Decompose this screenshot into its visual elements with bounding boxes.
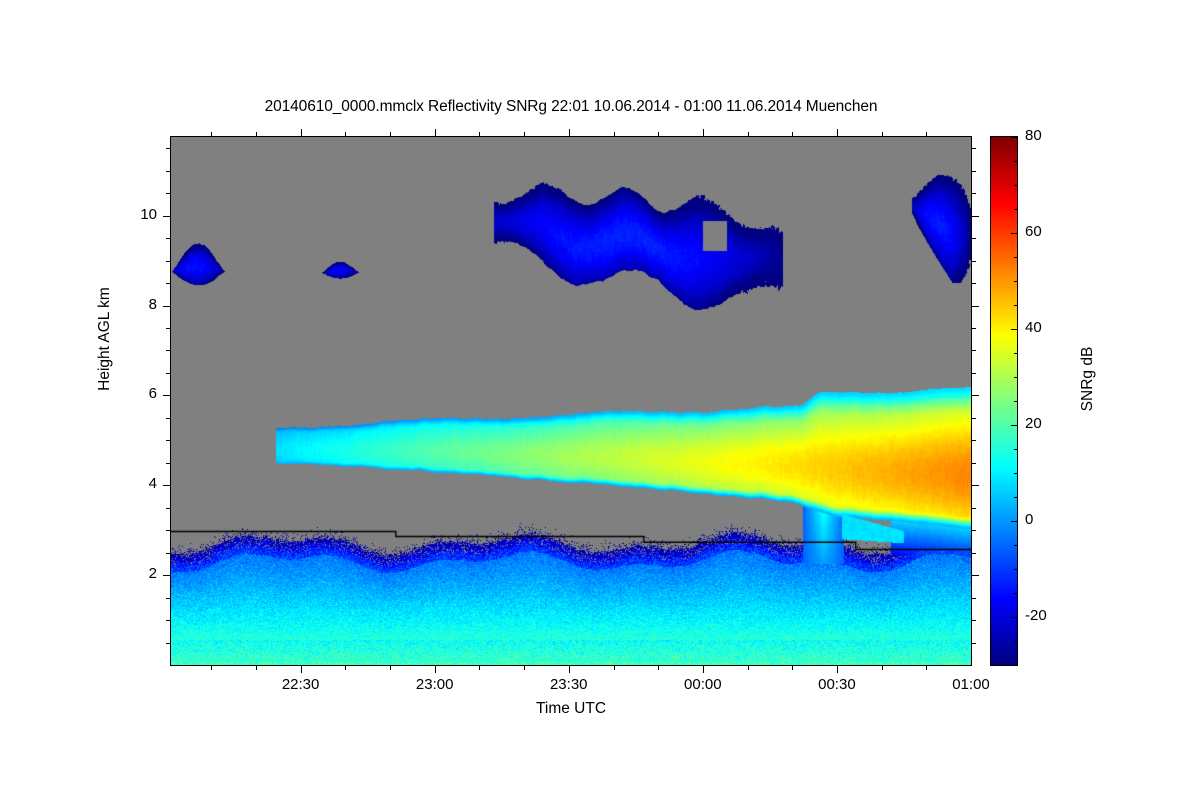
y-tick-right <box>971 620 976 621</box>
y-tick-left <box>163 306 171 307</box>
colorbar-tick <box>1014 161 1017 162</box>
colorbar-tick <box>1014 209 1017 210</box>
colorbar-tick <box>1014 353 1017 354</box>
y-tick-left <box>166 283 171 284</box>
y-tick-left <box>166 148 171 149</box>
x-tick-bottom <box>926 665 927 670</box>
colorbar-tick <box>1014 569 1017 570</box>
x-tick-bottom <box>837 665 838 673</box>
colorbar-tick <box>1011 233 1017 234</box>
y-tick-right <box>971 350 976 351</box>
colorbar-tick-label: 80 <box>1025 127 1085 144</box>
x-tick-top <box>837 129 838 137</box>
y-tick-label: 8 <box>32 296 157 313</box>
y-tick-left <box>163 575 171 576</box>
x-tick-bottom <box>301 665 302 673</box>
y-tick-right <box>971 373 976 374</box>
y-tick-right <box>971 261 976 262</box>
x-tick-top <box>479 132 480 137</box>
y-tick-right <box>971 575 979 576</box>
y-tick-label: 10 <box>32 206 157 223</box>
colorbar-tick-label: 20 <box>1025 415 1085 432</box>
x-tick-bottom <box>390 665 391 670</box>
y-tick-right <box>971 328 976 329</box>
x-tick-bottom <box>211 665 212 670</box>
x-tick-bottom <box>748 665 749 670</box>
y-tick-left <box>166 553 171 554</box>
x-tick-bottom <box>792 665 793 670</box>
x-tick-top <box>614 132 615 137</box>
colorbar-tick <box>1011 137 1017 138</box>
y-tick-left <box>166 193 171 194</box>
y-tick-right <box>971 530 976 531</box>
y-tick-left <box>166 328 171 329</box>
x-tick-top <box>345 132 346 137</box>
x-tick-top <box>256 132 257 137</box>
y-tick-left <box>166 171 171 172</box>
colorbar-tick <box>1014 185 1017 186</box>
x-tick-label: 01:00 <box>911 676 1031 693</box>
x-tick-bottom <box>882 665 883 670</box>
colorbar-tick-label: 60 <box>1025 223 1085 240</box>
x-tick-bottom <box>614 665 615 670</box>
y-tick-left <box>166 350 171 351</box>
x-tick-top <box>569 129 570 137</box>
x-tick-label: 23:00 <box>375 676 495 693</box>
x-tick-label: 23:30 <box>509 676 629 693</box>
colorbar-tick <box>1014 449 1017 450</box>
colorbar-tick <box>1014 257 1017 258</box>
y-tick-left <box>166 261 171 262</box>
x-tick-top <box>390 132 391 137</box>
y-tick-right <box>971 418 976 419</box>
y-tick-left <box>163 395 171 396</box>
colorbar-tick <box>1014 281 1017 282</box>
x-axis-label: Time UTC <box>170 700 972 718</box>
radar-timeheight-figure: 20140610_0000.mmclx Reflectivity SNRg 22… <box>0 0 1200 800</box>
y-tick-left <box>166 620 171 621</box>
x-tick-top <box>211 132 212 137</box>
colorbar-tick <box>1014 401 1017 402</box>
y-tick-left <box>166 530 171 531</box>
y-tick-right <box>971 553 976 554</box>
y-tick-right <box>971 463 976 464</box>
y-tick-right <box>971 485 979 486</box>
x-tick-top <box>792 132 793 137</box>
colorbar-tick <box>1014 665 1017 666</box>
x-tick-label: 00:30 <box>777 676 897 693</box>
y-tick-right <box>971 306 979 307</box>
x-tick-top <box>882 132 883 137</box>
y-tick-label: 6 <box>32 385 157 402</box>
x-tick-bottom <box>256 665 257 670</box>
colorbar-tick <box>1014 593 1017 594</box>
x-tick-top <box>748 132 749 137</box>
x-tick-label: 22:30 <box>241 676 361 693</box>
x-tick-top <box>435 129 436 137</box>
y-tick-left <box>166 440 171 441</box>
colorbar-tick <box>1011 425 1017 426</box>
heatmap-canvas <box>171 137 971 665</box>
x-tick-top <box>524 132 525 137</box>
x-tick-bottom <box>524 665 525 670</box>
y-tick-left <box>166 373 171 374</box>
y-tick-right <box>971 395 979 396</box>
y-tick-left <box>166 463 171 464</box>
y-tick-right <box>971 148 976 149</box>
colorbar-tick <box>1014 473 1017 474</box>
y-tick-right <box>971 216 979 217</box>
x-tick-top <box>703 129 704 137</box>
colorbar-tick <box>1014 377 1017 378</box>
y-tick-right <box>971 598 976 599</box>
y-tick-left <box>166 238 171 239</box>
x-tick-top <box>926 132 927 137</box>
colorbar-tick <box>1011 617 1017 618</box>
y-tick-right <box>971 440 976 441</box>
y-tick-left <box>163 216 171 217</box>
y-tick-left <box>166 508 171 509</box>
colorbar-tick <box>1011 521 1017 522</box>
y-tick-left <box>163 485 171 486</box>
plot-area <box>170 136 972 666</box>
y-tick-left <box>166 643 171 644</box>
x-tick-bottom <box>435 665 436 673</box>
colorbar-tick <box>1011 329 1017 330</box>
colorbar-tick-label: -20 <box>1025 607 1085 624</box>
x-tick-bottom <box>345 665 346 670</box>
colorbar-tick-label: 40 <box>1025 319 1085 336</box>
x-tick-label: 00:00 <box>643 676 763 693</box>
x-tick-top <box>301 129 302 137</box>
x-tick-bottom <box>658 665 659 670</box>
y-tick-right <box>971 171 976 172</box>
y-tick-right <box>971 283 976 284</box>
colorbar-label: SNRg dB <box>1079 269 1097 489</box>
y-tick-right <box>971 508 976 509</box>
y-axis-label: Height AGL km <box>96 229 114 449</box>
y-tick-left <box>166 418 171 419</box>
y-tick-right <box>971 193 976 194</box>
colorbar-tick <box>1014 545 1017 546</box>
colorbar-tick <box>1014 305 1017 306</box>
x-tick-bottom <box>703 665 704 673</box>
colorbar-tick <box>1014 497 1017 498</box>
x-tick-bottom <box>569 665 570 673</box>
y-tick-left <box>166 598 171 599</box>
x-tick-bottom <box>479 665 480 670</box>
colorbar-tick-label: 0 <box>1025 511 1085 528</box>
colorbar-tick <box>1014 641 1017 642</box>
y-tick-right <box>971 238 976 239</box>
y-tick-right <box>971 643 976 644</box>
y-tick-label: 2 <box>32 565 157 582</box>
y-tick-label: 4 <box>32 475 157 492</box>
chart-title: 20140610_0000.mmclx Reflectivity SNRg 22… <box>170 98 972 116</box>
x-tick-top <box>658 132 659 137</box>
